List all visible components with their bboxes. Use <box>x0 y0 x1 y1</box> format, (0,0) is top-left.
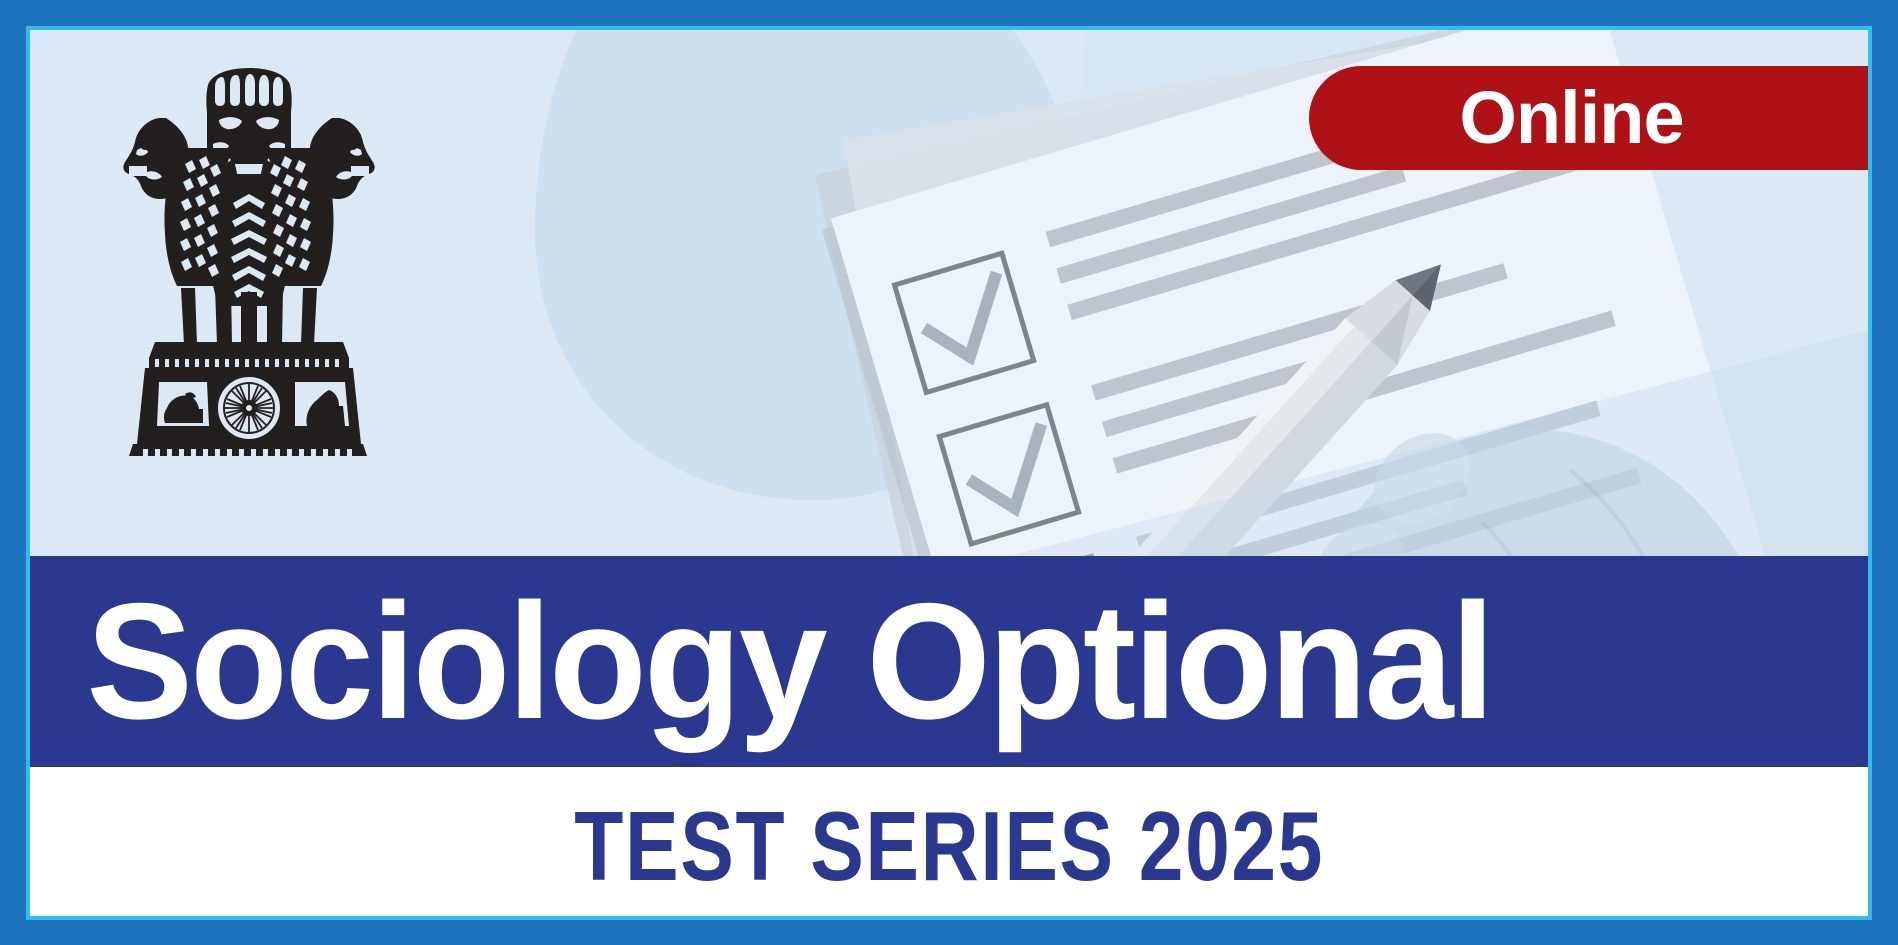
poster-banner: Online Sociology Optional TEST SERIES 20… <box>0 0 1898 945</box>
inner-frame: Online Sociology Optional TEST SERIES 20… <box>26 26 1872 920</box>
page-title: Sociology Optional <box>30 581 1492 743</box>
page-subtitle: TEST SERIES 2025 <box>574 797 1324 895</box>
online-badge-label: Online <box>1459 81 1683 155</box>
title-band: Sociology Optional <box>30 556 1868 767</box>
online-badge: Online <box>1309 66 1868 170</box>
hero-illustration-area: Online <box>30 30 1868 556</box>
inner-body: Online Sociology Optional TEST SERIES 20… <box>30 30 1868 916</box>
ashoka-lion-capital-emblem <box>115 56 383 456</box>
subtitle-strip: TEST SERIES 2025 <box>30 767 1868 916</box>
